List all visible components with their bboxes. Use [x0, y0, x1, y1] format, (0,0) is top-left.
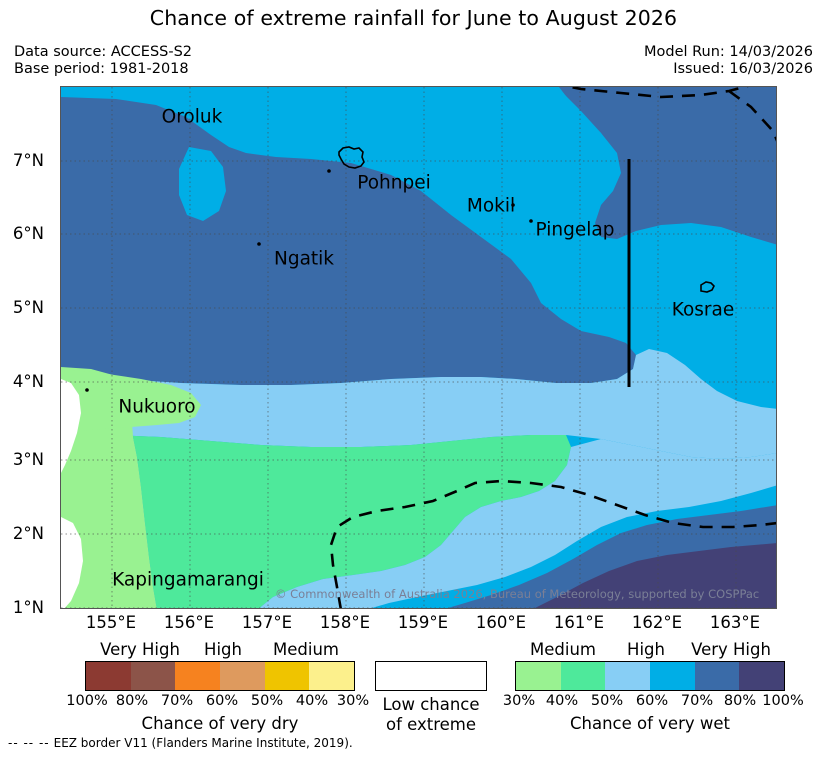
place-label-ngatik: Ngatik	[274, 249, 334, 270]
legend-low-chance-caption-line2: of extreme	[375, 715, 487, 735]
legend-low-chance-of-extreme: Low chance of extreme	[375, 640, 487, 735]
legend-dry-category-high: High	[204, 640, 242, 659]
x-axis-label-156E: 156°E	[144, 613, 234, 632]
legend-dry-tick-100: 100%	[66, 693, 107, 709]
legend-dry-caption: Chance of very dry	[85, 714, 355, 733]
legend-dry-ticks: 100% 80% 70% 60% 50% 40% 30%	[85, 693, 355, 713]
legend-dry-category-very-high: Very High	[100, 640, 180, 659]
legend-dry-swatch-60-50[interactable]	[220, 662, 265, 690]
legend-wet-tick-100: 100%	[762, 693, 803, 709]
legend-wet-swatch-40-50[interactable]	[561, 662, 606, 690]
legend-wet-ticks: 30% 40% 50% 60% 70% 80% 100%	[515, 693, 785, 713]
y-axis-label-3N: 3°N	[0, 450, 44, 469]
legend-wet-categories: Medium High Very High	[515, 640, 785, 661]
legend-wet-tick-50: 50%	[591, 693, 623, 709]
legend-wet-swatch-80-100[interactable]	[739, 662, 784, 690]
rainfall-probability-map[interactable]: Oroluk Pohnpei Mokil Pingelap Kosrae Nga…	[60, 86, 777, 609]
x-axis-label-160E: 160°E	[456, 613, 546, 632]
legend-wet-caption: Chance of very wet	[515, 714, 785, 733]
legend-dry-swatch-80-70[interactable]	[131, 662, 176, 690]
place-label-kapingamarangi: Kapingamarangi	[112, 570, 264, 591]
legend-dry-tick-70: 70%	[161, 693, 193, 709]
y-axis-label-1N: 1°N	[0, 598, 44, 617]
legend-dry-category-medium: Medium	[273, 640, 339, 659]
legend-dry-tick-60: 60%	[206, 693, 238, 709]
nukuoro-island-dot	[85, 388, 89, 392]
metadata-right: Model Run: 14/03/2026 Issued: 16/03/2026	[644, 44, 813, 78]
x-axis-label-158E: 158°E	[300, 613, 390, 632]
legend-chance-of-very-wet: Medium High Very High 30% 40% 50% 60% 70…	[515, 640, 785, 733]
x-axis-label-157E: 157°E	[222, 613, 312, 632]
legend-wet-swatch-60-70[interactable]	[650, 662, 695, 690]
legend-low-chance-swatch[interactable]	[375, 661, 487, 691]
issued-text: Issued: 16/03/2026	[644, 61, 813, 78]
place-label-kosrae: Kosrae	[672, 300, 735, 321]
place-label-nukuoro: Nukuoro	[118, 397, 195, 418]
y-axis-label-2N: 2°N	[0, 524, 44, 543]
base-period-text: Base period: 1981-2018	[14, 61, 192, 78]
legend-wet-category-medium: Medium	[530, 640, 596, 659]
place-label-pohnpei: Pohnpei	[357, 173, 431, 194]
pohnpei-island-dot	[327, 169, 331, 173]
model-run-text: Model Run: 14/03/2026	[644, 44, 813, 61]
place-label-pingelap: Pingelap	[536, 220, 615, 241]
legend-dry-tick-80: 80%	[116, 693, 148, 709]
y-axis-label-4N: 4°N	[0, 372, 44, 391]
legend-wet-tick-30: 30%	[503, 693, 535, 709]
legend-wet-tick-60: 60%	[636, 693, 668, 709]
legend-dry-swatch-50-40[interactable]	[265, 662, 310, 690]
map-contour-canvas	[61, 87, 777, 609]
ngatik-island-dot	[257, 242, 261, 246]
legend-dry-tick-40: 40%	[296, 693, 328, 709]
legend-dry-swatch-70-60[interactable]	[175, 662, 220, 690]
legend-dry-tick-30: 30%	[337, 693, 369, 709]
legend-dry-swatch-100-80[interactable]	[86, 662, 131, 690]
legend-wet-swatch-70-80[interactable]	[695, 662, 740, 690]
legend-low-chance-caption: Low chance of extreme	[375, 695, 487, 735]
eez-footnote: -- -- --EEZ border V11 (Flanders Marine …	[8, 736, 353, 750]
legend-dry-categories: Very High High Medium	[85, 640, 355, 661]
legend-wet-swatch-50-60[interactable]	[605, 662, 650, 690]
legend-wet-swatch-30-40[interactable]	[516, 662, 561, 690]
x-axis-label-162E: 162°E	[612, 613, 702, 632]
x-axis-label-155E: 155°E	[66, 613, 156, 632]
eez-footnote-dashes: -- -- --	[8, 736, 50, 750]
data-source-text: Data source: ACCESS-S2	[14, 44, 192, 61]
pingelap-island-dot	[529, 219, 533, 223]
y-axis-label-7N: 7°N	[0, 151, 44, 170]
legend-wet-swatches[interactable]	[515, 661, 785, 691]
legend-dry-swatches[interactable]	[85, 661, 355, 691]
copyright-credit: © Commonwealth of Australia 2026, Bureau…	[275, 587, 759, 601]
metadata-left: Data source: ACCESS-S2 Base period: 1981…	[14, 44, 192, 78]
legend-wet-category-very-high: Very High	[691, 640, 771, 659]
legend-wet-tick-40: 40%	[546, 693, 578, 709]
legend-low-chance-caption-line1: Low chance	[375, 695, 487, 715]
legend-wet-category-high: High	[627, 640, 665, 659]
legend-wet-tick-70: 70%	[681, 693, 713, 709]
x-axis-label-163E: 163°E	[690, 613, 780, 632]
x-axis-label-159E: 159°E	[378, 613, 468, 632]
legend-chance-of-very-dry: Very High High Medium 100% 80% 70% 60% 5…	[85, 640, 355, 733]
y-axis-label-5N: 5°N	[0, 298, 44, 317]
legend-dry-tick-50: 50%	[251, 693, 283, 709]
place-label-oroluk: Oroluk	[162, 107, 223, 128]
place-label-mokil: Mokil	[467, 196, 515, 217]
legend-dry-swatch-40-30[interactable]	[309, 662, 354, 690]
page-title: Chance of extreme rainfall for June to A…	[0, 6, 827, 30]
legend-wet-tick-80: 80%	[724, 693, 756, 709]
y-axis-label-6N: 6°N	[0, 224, 44, 243]
eez-footnote-text: EEZ border V11 (Flanders Marine Institut…	[54, 736, 353, 750]
x-axis-label-161E: 161°E	[534, 613, 624, 632]
